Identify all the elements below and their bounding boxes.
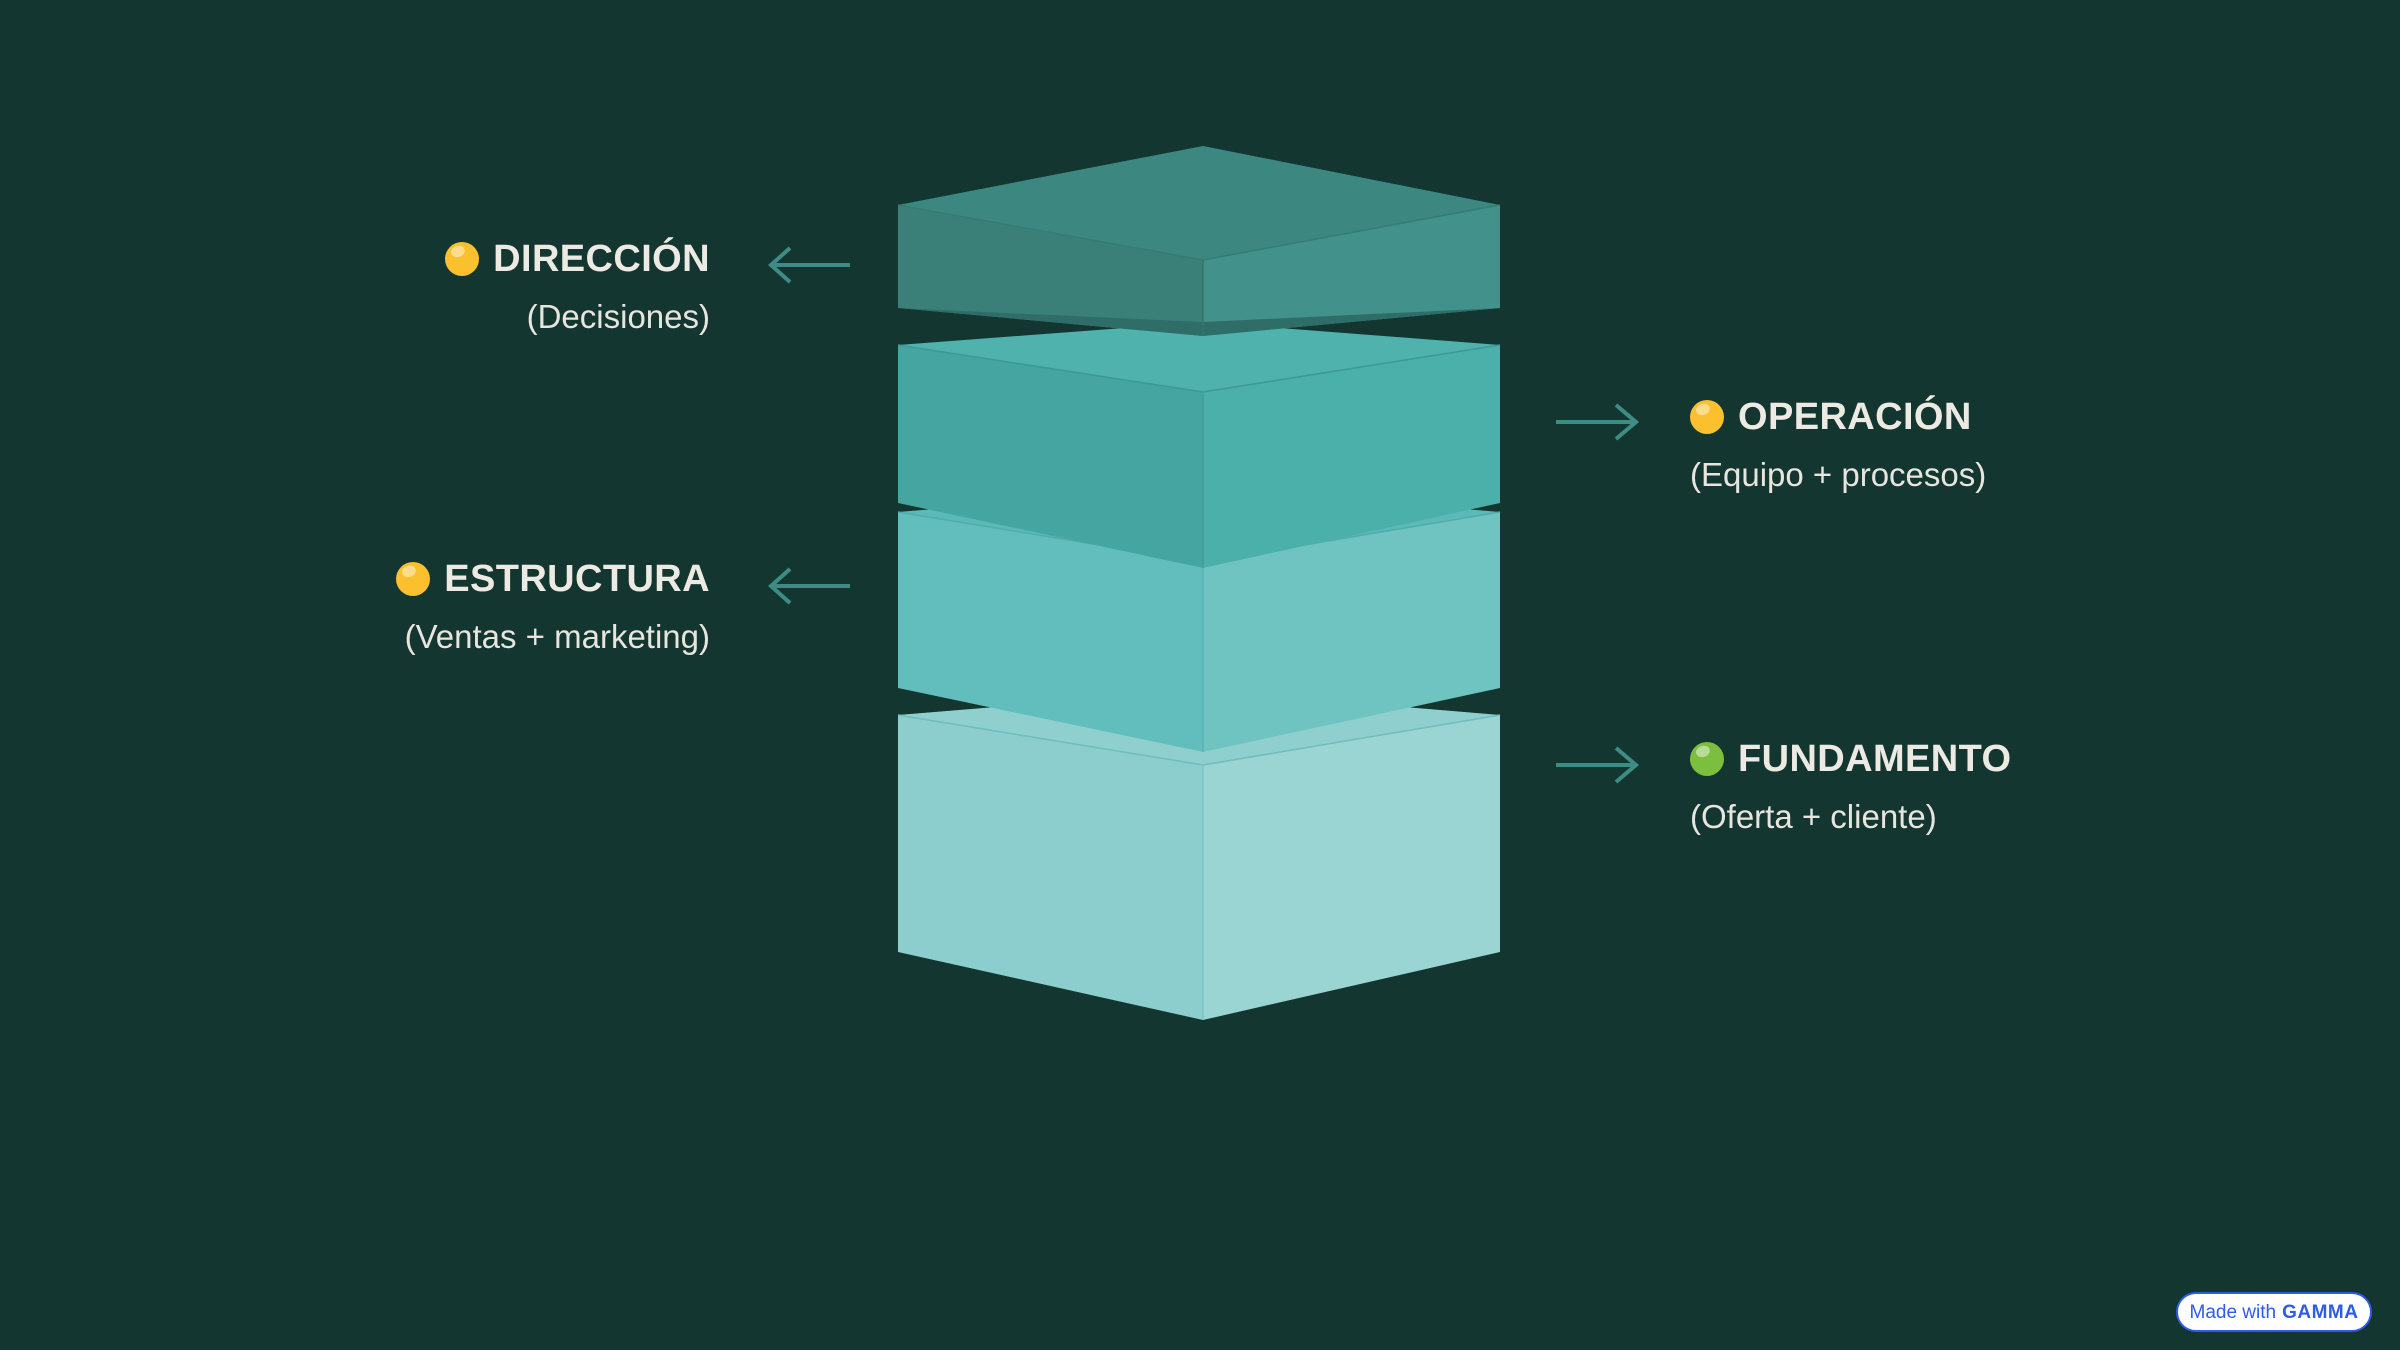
callout-operacion-title-row: OPERACIÓN	[1690, 398, 1972, 436]
callout-estructura-title-row: ESTRUCTURA	[396, 560, 710, 598]
block-fundamento-left-face	[898, 715, 1203, 1020]
yellow-dot-icon	[445, 242, 479, 276]
stacked-blocks-diagram	[0, 0, 2400, 1350]
block-estructura-edges	[898, 512, 1500, 562]
block-estructura-top-face	[898, 487, 1500, 562]
gamma-logo: GAMMA	[2282, 1303, 2358, 1322]
block-operacion-right-face	[1203, 345, 1500, 568]
callout-estructura-subtitle: (Ventas + marketing)	[405, 620, 710, 653]
block-direccion-right-face	[1203, 205, 1500, 336]
callout-direccion-title: DIRECCIÓN	[493, 240, 710, 278]
block-estructura	[898, 487, 1500, 752]
yellow-dot-icon	[396, 562, 430, 596]
block-direccion-left-face	[898, 205, 1203, 336]
block-fundamento-top-face	[898, 690, 1500, 765]
callout-fundamento: FUNDAMENTO (Oferta + cliente)	[1690, 740, 2210, 833]
callout-operacion: OPERACIÓN (Equipo + procesos)	[1690, 398, 2170, 491]
block-operacion	[898, 322, 1500, 568]
block-estructura-right-face	[1203, 512, 1500, 752]
arrow-left-estructura	[770, 569, 850, 603]
made-with-gamma-badge[interactable]: Made with GAMMA	[2176, 1292, 2372, 1332]
slide-canvas: DIRECCIÓN (Decisiones) OPERACIÓN (Equipo…	[0, 0, 2400, 1350]
callout-direccion-title-row: DIRECCIÓN	[445, 240, 710, 278]
block-operacion-top-face	[898, 322, 1500, 392]
callout-fundamento-title-row: FUNDAMENTO	[1690, 740, 2012, 778]
block-direccion-edges	[898, 205, 1500, 260]
block-fundamento-edges	[898, 715, 1500, 765]
yellow-dot-icon	[1690, 400, 1724, 434]
arrow-right-fundamento	[1556, 748, 1636, 782]
callout-operacion-title: OPERACIÓN	[1738, 398, 1972, 436]
block-direccion-top-face	[898, 146, 1500, 260]
block-operacion-edges	[898, 345, 1500, 392]
block-operacion-left-face	[898, 345, 1203, 568]
badge-made-with-label: Made with	[2190, 1303, 2277, 1322]
arrow-right-operacion	[1556, 405, 1636, 439]
block-estructura-left-face	[898, 512, 1203, 752]
callout-direccion-subtitle: (Decisiones)	[527, 300, 710, 333]
callout-direccion: DIRECCIÓN (Decisiones)	[300, 240, 710, 333]
callout-fundamento-title: FUNDAMENTO	[1738, 740, 2012, 778]
block-direccion	[898, 146, 1500, 336]
block-fundamento-right-face	[1203, 715, 1500, 1020]
block-fundamento	[898, 690, 1500, 1020]
arrow-left-direccion	[770, 248, 850, 282]
callout-estructura: ESTRUCTURA (Ventas + marketing)	[260, 560, 710, 653]
green-dot-icon	[1690, 742, 1724, 776]
callout-estructura-title: ESTRUCTURA	[444, 560, 710, 598]
callout-fundamento-subtitle: (Oferta + cliente)	[1690, 800, 1937, 833]
block-direccion-under-face	[898, 308, 1500, 336]
callout-operacion-subtitle: (Equipo + procesos)	[1690, 458, 1986, 491]
